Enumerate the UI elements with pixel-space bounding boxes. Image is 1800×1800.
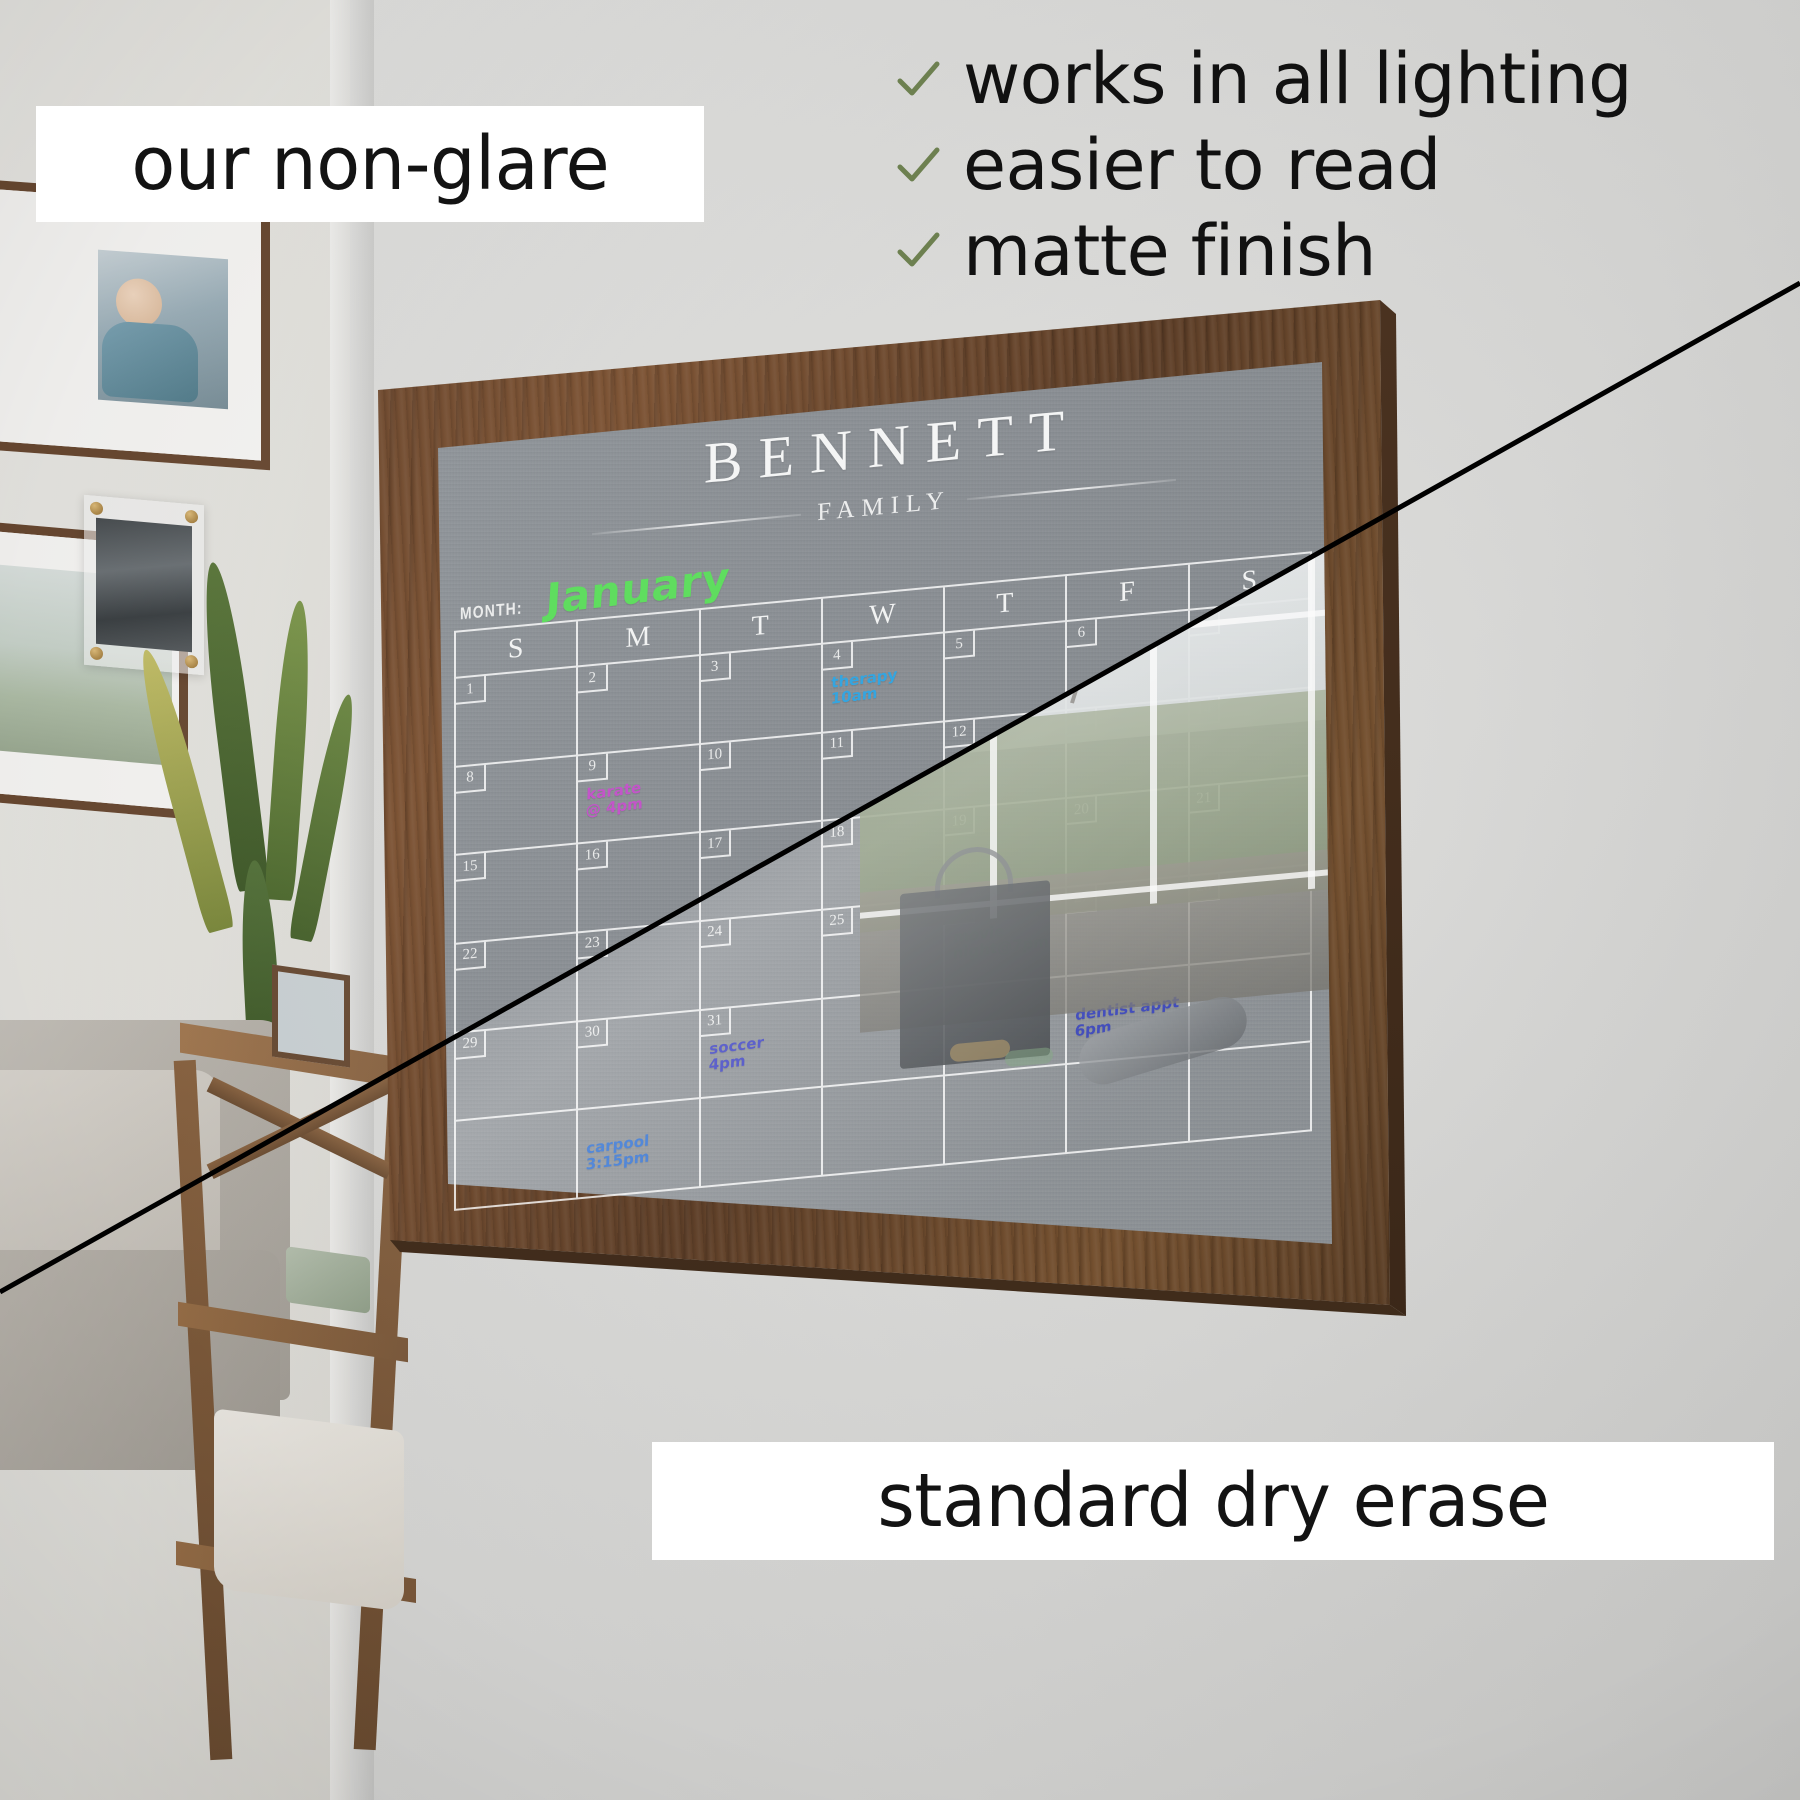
calendar-day-cell[interactable]: 18 bbox=[823, 811, 945, 911]
calendar-day-cell[interactable]: 13 bbox=[1067, 699, 1189, 799]
feature-checklist: works in all lightingeasier to readmatte… bbox=[895, 40, 1775, 297]
calendar-day-cell[interactable]: 29 bbox=[456, 1022, 578, 1122]
calendar-day-cell[interactable]: 5 bbox=[945, 622, 1067, 722]
calendar-day-cell[interactable]: 28 bbox=[1190, 865, 1312, 965]
day-number: 5 bbox=[945, 631, 975, 660]
divider-rule-right bbox=[967, 479, 1176, 500]
check-icon bbox=[895, 228, 941, 274]
day-number: 13 bbox=[1067, 708, 1097, 737]
product-comparison-image: BENNETT FAMILY MONTH: January SMTWTFS123… bbox=[0, 0, 1800, 1800]
calendar-day-cell[interactable]: 27 bbox=[1067, 877, 1189, 977]
check-icon bbox=[895, 57, 941, 103]
day-number: 16 bbox=[578, 842, 608, 871]
calendar-day-cell[interactable]: 4therapy 10am bbox=[823, 633, 945, 733]
calendar-event-note[interactable]: karate @ 4pm bbox=[586, 773, 695, 818]
day-number: 15 bbox=[456, 853, 486, 882]
calendar-day-cell[interactable]: dentist appt 6pm bbox=[1067, 965, 1189, 1065]
day-number: 25 bbox=[823, 908, 853, 937]
day-number: 18 bbox=[823, 819, 853, 848]
calendar-day-cell[interactable]: 24 bbox=[701, 911, 823, 1011]
calendar-day-cell[interactable]: 9karate @ 4pm bbox=[578, 745, 700, 845]
calendar-day-cell[interactable] bbox=[823, 1077, 945, 1177]
calendar-event-note[interactable]: soccer 4pm bbox=[708, 1028, 817, 1073]
day-number: 26 bbox=[945, 897, 975, 926]
feature-label: matte finish bbox=[963, 212, 1376, 292]
day-number: 11 bbox=[823, 731, 853, 760]
calendar-day-cell[interactable]: 15 bbox=[456, 845, 578, 945]
day-number: 4 bbox=[823, 642, 853, 671]
day-number: 9 bbox=[578, 753, 608, 782]
label-standard-dry-erase: standard dry erase bbox=[652, 1442, 1774, 1560]
day-number: 7 bbox=[1190, 608, 1220, 637]
day-number: 24 bbox=[701, 919, 731, 948]
feature-label: easier to read bbox=[963, 126, 1441, 206]
gallery-frame-baby-photo bbox=[0, 180, 270, 471]
day-number: 1 bbox=[456, 676, 486, 705]
label-our-non-glare: our non-glare bbox=[36, 106, 704, 222]
month-label: MONTH: bbox=[460, 599, 523, 625]
day-number: 27 bbox=[1067, 885, 1097, 914]
day-number: 19 bbox=[945, 808, 975, 837]
calendar-day-cell[interactable]: 6 bbox=[1067, 611, 1189, 711]
calendar-day-cell[interactable] bbox=[456, 1111, 578, 1211]
calendar-day-cell[interactable]: 21 bbox=[1190, 777, 1312, 877]
calendar-day-cell[interactable]: 17 bbox=[701, 822, 823, 922]
calendar-day-cell[interactable]: 14 bbox=[1190, 688, 1312, 788]
calendar-day-cell[interactable] bbox=[1067, 1054, 1189, 1154]
calendar-day-cell[interactable]: 8 bbox=[456, 756, 578, 856]
calendar-day-cell[interactable]: 30 bbox=[578, 1011, 700, 1111]
feature-item-0: works in all lighting bbox=[895, 40, 1775, 120]
calendar-content: BENNETT FAMILY MONTH: January SMTWTFS123… bbox=[442, 288, 1326, 1230]
calendar-day-cell[interactable]: 3 bbox=[701, 645, 823, 745]
calendar-day-cell[interactable]: 1 bbox=[456, 667, 578, 767]
feature-item-2: matte finish bbox=[895, 212, 1775, 292]
day-number: 29 bbox=[456, 1031, 486, 1060]
day-number: 17 bbox=[701, 831, 731, 860]
calendar-event-note[interactable]: dentist appt 6pm bbox=[1075, 994, 1184, 1039]
calendar-day-cell[interactable]: 10 bbox=[701, 733, 823, 833]
day-number: 28 bbox=[1190, 874, 1220, 903]
feature-item-1: easier to read bbox=[895, 126, 1775, 206]
calendar-day-cell[interactable] bbox=[945, 1065, 1067, 1165]
calendar-day-cell[interactable]: 26movie night@7pm bbox=[945, 888, 1067, 988]
calendar-day-cell[interactable]: 31soccer 4pm bbox=[701, 999, 823, 1099]
feature-label: works in all lighting bbox=[963, 40, 1632, 120]
day-number: 20 bbox=[1067, 797, 1097, 826]
label-standard-dry-erase-text: standard dry erase bbox=[877, 1458, 1549, 1544]
calendar-day-cell[interactable] bbox=[1190, 1043, 1312, 1143]
calendar-day-cell[interactable]: carpool 3:15pm bbox=[578, 1099, 700, 1199]
day-number: 21 bbox=[1190, 785, 1220, 814]
day-number: 3 bbox=[701, 653, 731, 682]
day-number: 6 bbox=[1067, 619, 1097, 648]
day-number: 23 bbox=[578, 931, 608, 960]
calendar-day-cell[interactable] bbox=[701, 1088, 823, 1188]
calendar-event-note[interactable]: carpool 3:15pm bbox=[586, 1128, 695, 1173]
calendar-day-cell[interactable]: 20 bbox=[1067, 788, 1189, 888]
calendar-day-cell[interactable] bbox=[945, 977, 1067, 1077]
calendar-day-cell[interactable]: 11 bbox=[823, 722, 945, 822]
check-icon bbox=[895, 143, 941, 189]
day-number: 8 bbox=[456, 765, 486, 794]
day-number: 10 bbox=[701, 742, 731, 771]
acrylic-float-frame-wedding-photo bbox=[84, 495, 204, 675]
calendar-event-note[interactable]: movie night@7pm bbox=[953, 917, 1062, 962]
day-number: 30 bbox=[578, 1019, 608, 1048]
calendar-day-cell[interactable]: 12 bbox=[945, 711, 1067, 811]
calendar-day-cell[interactable]: 2 bbox=[578, 656, 700, 756]
calendar-day-cell[interactable]: 19 bbox=[945, 799, 1067, 899]
calendar-day-cell[interactable] bbox=[1190, 954, 1312, 1054]
calendar-day-cell[interactable]: 16 bbox=[578, 833, 700, 933]
divider-rule-left bbox=[592, 514, 801, 535]
calendar-day-cell[interactable]: 7 bbox=[1190, 599, 1312, 699]
calendar-day-cell[interactable] bbox=[823, 988, 945, 1088]
family-subtitle: FAMILY bbox=[817, 487, 950, 527]
calendar-day-cell[interactable]: 23 bbox=[578, 922, 700, 1022]
day-number: 22 bbox=[456, 942, 486, 971]
calendar-event-note[interactable]: therapy 10am bbox=[830, 662, 939, 707]
calendar-grid: SMTWTFS1234therapy 10am56789karate @ 4pm… bbox=[454, 551, 1312, 1211]
dry-erase-calendar-board: BENNETT FAMILY MONTH: January SMTWTFS123… bbox=[370, 300, 1470, 1400]
day-number: 31 bbox=[701, 1008, 731, 1037]
calendar-day-cell[interactable]: 22 bbox=[456, 933, 578, 1033]
day-number: 14 bbox=[1190, 697, 1220, 726]
day-number: 12 bbox=[945, 719, 975, 748]
calendar-day-cell[interactable]: 25 bbox=[823, 899, 945, 999]
label-our-non-glare-text: our non-glare bbox=[131, 121, 609, 207]
day-number: 2 bbox=[578, 665, 608, 694]
